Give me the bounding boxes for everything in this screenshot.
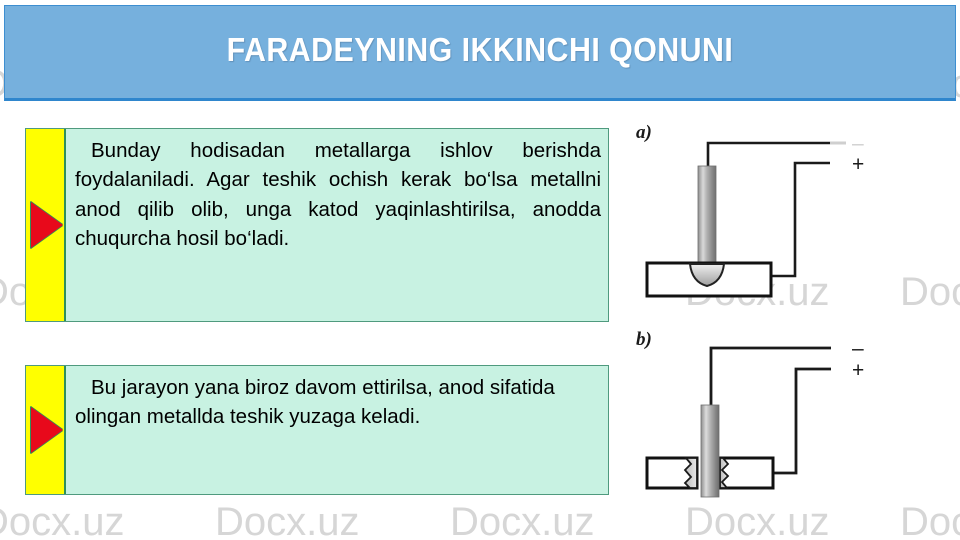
watermark-text: Docx.uz [0,500,125,540]
title-band: FARADEYNING IKKINCHI QONUNI [4,5,956,101]
watermark-text: Docx.uz [215,500,360,540]
callout-marker-strip-1 [26,129,66,321]
triangle-bullet-icon [31,407,63,453]
page-title: FARADEYNING IKKINCHI QONUNI [43,31,917,69]
wire-positive [771,163,830,276]
callout-marker-strip-2 [26,366,66,494]
callout-box-2: Bu jarayon yana biroz davom ettirilsa, a… [25,365,609,495]
callout-text-2: Bu jarayon yana biroz davom ettirilsa, a… [66,366,608,494]
diagram-b-drawing: – + [628,325,958,535]
triangle-bullet-icon [31,202,63,248]
diagram-b: b) – + [628,325,958,535]
diagram-a-drawing: – + [628,118,958,318]
diagram-a: a) – + [628,118,958,318]
wire-negative [711,348,831,405]
wire-positive [773,369,831,473]
electrode-rod-icon [701,405,719,497]
positive-sign: + [852,359,864,382]
callout-box-1: Bunday hodisadan metallarga ishlov beris… [25,128,609,322]
callout-text-1: Bunday hodisadan metallarga ishlov beris… [66,129,608,321]
positive-sign: + [852,153,864,176]
callout-paragraph-2: Bu jarayon yana biroz davom ettirilsa, a… [75,373,601,432]
negative-sign: – [852,337,864,360]
workpiece-block-right [720,458,773,488]
callout-paragraph-1: Bunday hodisadan metallarga ishlov beris… [75,136,601,253]
negative-sign: – [852,132,864,155]
watermark-text: Docx.uz [450,500,595,540]
electrode-rod-icon [698,166,716,266]
